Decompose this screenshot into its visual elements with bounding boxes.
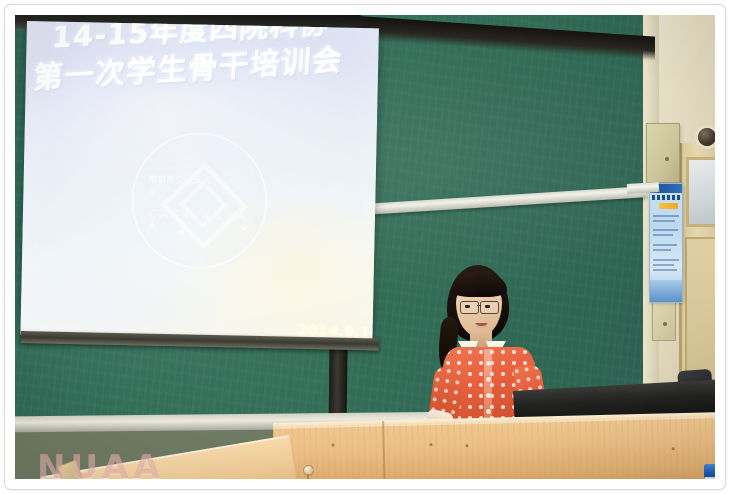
emblem-star-left: ★ [147, 220, 158, 232]
photograph: 14-15年度四院科协 第一次学生骨干培训会 南京航空航天大学 ★ ★ ★ CA… [15, 15, 715, 479]
slide-title: 14-15年度四院科协 第一次学生骨干培训会 [29, 23, 378, 101]
presenter-eye-right [485, 305, 490, 308]
association-emblem-icon: 南京航空航天大学 ★ ★ ★ CAST NUAA [130, 131, 269, 270]
lectern-knob-stem [307, 474, 309, 479]
presenter-eye-left [465, 305, 470, 308]
door-panel [685, 237, 715, 381]
presenter-eyeglasses-bridge [477, 305, 481, 306]
photo-frame: 14-15年度四院科协 第一次学生骨干培训会 南京航空航天大学 ★ ★ ★ CA… [4, 4, 726, 490]
water-bottle-cap [704, 464, 715, 478]
emblem-star-right: ★ [239, 221, 250, 233]
projection-screen: 14-15年度四院科协 第一次学生骨干培训会 南京航空航天大学 ★ ★ ★ CA… [20, 21, 378, 342]
screenshot-stage: 14-15年度四院科协 第一次学生骨干培训会 南京航空航天大学 ★ ★ ★ CA… [0, 0, 730, 494]
poster-badge [659, 203, 678, 209]
chalkboard-rail-right [627, 182, 660, 194]
door-window [686, 157, 715, 227]
dome-security-camera-icon [698, 128, 715, 146]
lectern-front-panel [273, 416, 715, 479]
wall-control-box-lower [652, 301, 676, 341]
emblem-ring-text: 南京航空航天大学 [132, 133, 267, 268]
emblem-sub-text: CAST NUAA [149, 208, 249, 223]
water-bottle-body [705, 477, 715, 479]
poster-title-text [652, 195, 680, 200]
emblem-star-mid: ★ [176, 226, 187, 238]
